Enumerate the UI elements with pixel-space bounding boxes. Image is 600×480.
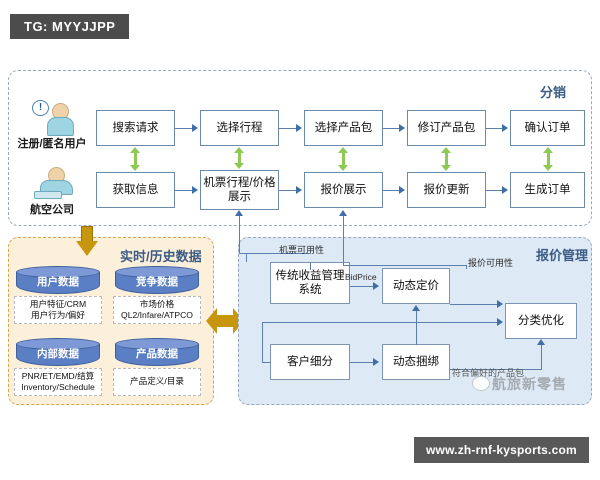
arrow-right-icon bbox=[296, 186, 302, 194]
actor-label: 航空公司 bbox=[16, 201, 88, 217]
cylinder-label: 竞争数据 bbox=[115, 274, 199, 289]
url-badge: www.zh-rnf-kysports.com bbox=[414, 437, 589, 463]
connector-line bbox=[466, 265, 467, 269]
detail-line: 用户行为/偏好 bbox=[16, 310, 100, 321]
green-double-arrow-icon bbox=[234, 147, 244, 169]
connector-line bbox=[279, 128, 297, 129]
data-detail-user-data: 用户特征/CRM 用户行为/偏好 bbox=[14, 296, 102, 324]
data-detail-competition-data: 市场价格 QL2/Infare/ATPCO bbox=[113, 296, 201, 324]
detail-line: Inventory/Schedule bbox=[16, 382, 100, 393]
edge-label-quote-availability: 报价可用性 bbox=[468, 256, 513, 269]
connector-line bbox=[541, 345, 542, 369]
edge-label-bid-price: BidPrice bbox=[345, 272, 377, 282]
arrow-up-icon bbox=[412, 305, 420, 311]
cylinder-product-data: 产品数据 bbox=[115, 338, 199, 368]
edge-label-ticket-availability: 机票可用性 bbox=[279, 243, 324, 256]
user-with-speech-bubble-icon: ! bbox=[26, 100, 78, 134]
node-category-optimization[interactable]: 分类优化 bbox=[505, 303, 577, 339]
connector-line bbox=[343, 216, 344, 266]
node-dynamic-pricing[interactable]: 动态定价 bbox=[382, 268, 450, 304]
process-box-generate-order[interactable]: 生成订单 bbox=[510, 172, 585, 208]
actor-airline: 航空公司 bbox=[16, 166, 88, 217]
node-dynamic-bundling[interactable]: 动态捆绑 bbox=[382, 344, 450, 380]
cylinder-label: 用户数据 bbox=[16, 274, 100, 289]
green-double-arrow-icon bbox=[130, 147, 140, 171]
connector-line bbox=[450, 304, 498, 305]
process-box-quote-display[interactable]: 报价展示 bbox=[304, 172, 383, 208]
cylinder-label: 内部数据 bbox=[16, 346, 100, 361]
connector-line bbox=[262, 322, 263, 362]
arrow-up-icon bbox=[235, 210, 243, 216]
data-detail-product-data: 产品定义/目录 bbox=[113, 368, 201, 396]
arrow-right-icon bbox=[373, 358, 379, 366]
person-at-desk-icon bbox=[26, 166, 78, 200]
process-box-confirm-order[interactable]: 确认订单 bbox=[510, 110, 585, 146]
process-box-quote-update[interactable]: 报价更新 bbox=[407, 172, 486, 208]
arrow-right-icon bbox=[399, 186, 405, 194]
detail-line: 市场价格 bbox=[115, 299, 199, 310]
watermark-text: 航旅新零售 bbox=[492, 374, 567, 394]
connector-line bbox=[310, 262, 311, 270]
distribution-section-title: 分销 bbox=[540, 82, 566, 101]
connector-line bbox=[239, 216, 240, 254]
arrow-right-icon bbox=[497, 318, 503, 326]
green-double-arrow-icon bbox=[543, 147, 553, 171]
green-double-arrow-icon bbox=[338, 147, 348, 171]
connector-line bbox=[262, 362, 270, 363]
process-box-select-itinerary[interactable]: 选择行程 bbox=[200, 110, 279, 146]
process-box-select-package[interactable]: 选择产品包 bbox=[304, 110, 383, 146]
connector-line bbox=[383, 190, 400, 191]
green-double-arrow-icon bbox=[441, 147, 451, 171]
connector-line bbox=[383, 128, 400, 129]
arrow-right-icon bbox=[502, 124, 508, 132]
arrow-right-icon bbox=[497, 300, 503, 308]
process-box-search-request[interactable]: 搜索请求 bbox=[96, 110, 175, 146]
arrow-right-icon bbox=[502, 186, 508, 194]
cylinder-internal-data: 内部数据 bbox=[16, 338, 100, 368]
quotation-section-title: 报价管理 bbox=[536, 245, 588, 264]
connector-line bbox=[175, 190, 193, 191]
arrow-up-icon bbox=[339, 210, 347, 216]
arrow-right-icon bbox=[296, 124, 302, 132]
cylinder-user-data: 用户数据 bbox=[16, 266, 100, 296]
process-box-revise-package[interactable]: 修订产品包 bbox=[407, 110, 486, 146]
connector-line bbox=[239, 253, 247, 254]
arrow-right-icon bbox=[192, 186, 198, 194]
actor-registered-anonymous-user: ! 注册/匿名用户 bbox=[16, 100, 88, 151]
data-section-title: 实时/历史数据 bbox=[120, 246, 202, 265]
process-box-get-information[interactable]: 获取信息 bbox=[96, 172, 175, 208]
connector-line bbox=[486, 128, 503, 129]
gold-arrow-up-icon bbox=[76, 226, 98, 256]
detail-line: PNR/ET/EMD/结算 bbox=[16, 371, 100, 382]
connector-line bbox=[416, 311, 417, 345]
cylinder-label: 产品数据 bbox=[115, 346, 199, 361]
connector-line bbox=[350, 286, 374, 287]
arrow-right-icon bbox=[399, 124, 405, 132]
arrow-up-icon bbox=[537, 339, 545, 345]
connector-line bbox=[350, 362, 374, 363]
data-detail-internal-data: PNR/ET/EMD/结算 Inventory/Schedule bbox=[14, 368, 102, 396]
connector-line bbox=[175, 128, 193, 129]
arrow-right-icon bbox=[192, 124, 198, 132]
connector-line bbox=[486, 190, 503, 191]
process-box-ticket-itinerary-price[interactable]: 机票行程/价格展示 bbox=[200, 170, 279, 210]
node-customer-segmentation[interactable]: 客户细分 bbox=[270, 344, 350, 380]
detail-line: QL2/Infare/ATPCO bbox=[115, 310, 199, 321]
detail-line: 产品定义/目录 bbox=[130, 376, 184, 387]
connector-line bbox=[343, 265, 467, 266]
actor-label: 注册/匿名用户 bbox=[16, 135, 88, 151]
detail-line: 用户特征/CRM bbox=[16, 299, 100, 310]
connector-line bbox=[246, 253, 247, 262]
connector-line bbox=[262, 322, 498, 323]
arrow-right-icon bbox=[373, 282, 379, 290]
connector-line bbox=[279, 190, 297, 191]
watermark-logo-icon bbox=[472, 376, 490, 391]
tag-badge: TG: MYYJJPP bbox=[10, 14, 129, 39]
cylinder-competition-data: 竞争数据 bbox=[115, 266, 199, 296]
